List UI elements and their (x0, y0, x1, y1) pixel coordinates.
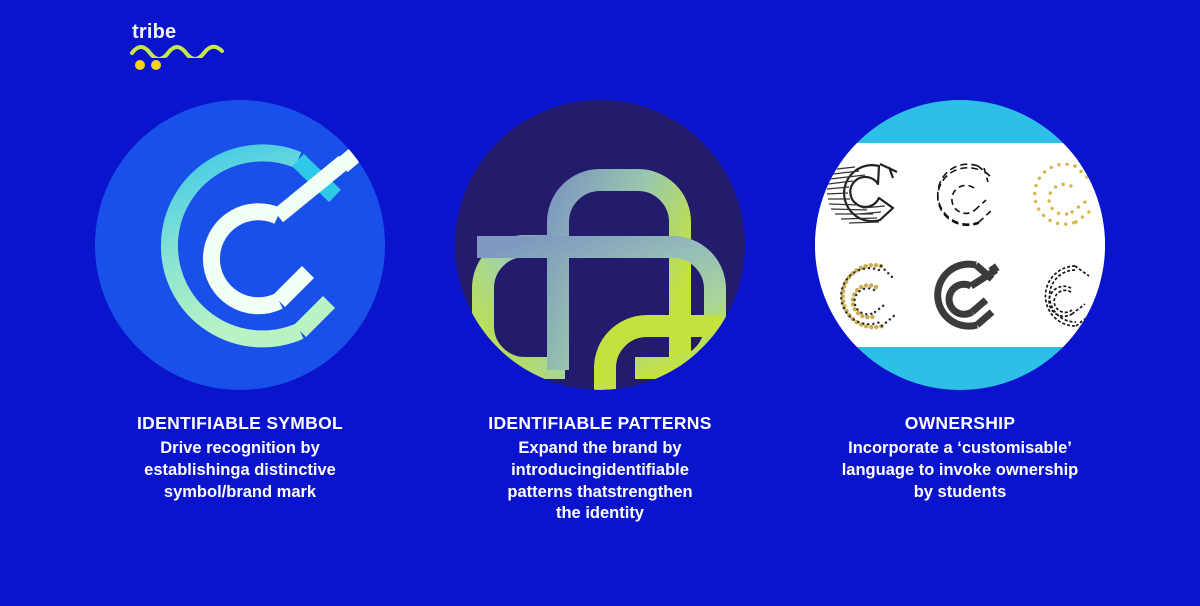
pillar-body: Expand the brand by introducingidentifia… (450, 438, 750, 526)
pillar-body: Incorporate a ‘customisable’ language to… (810, 438, 1110, 504)
slide-canvas: tribe (0, 0, 1200, 606)
pillar-identifiable-symbol: IDENTIFIABLE SYMBOL Drive recognition by… (75, 100, 405, 525)
c-square-beads-icon (916, 152, 1004, 236)
pillar-title: IDENTIFIABLE PATTERNS (450, 412, 750, 436)
patterns-circle (455, 100, 745, 390)
c-gold-speckle-icon (819, 254, 907, 338)
pillar-body: Drive recognition by establishinga disti… (90, 438, 390, 504)
c-sketch-hatched-icon (819, 152, 907, 236)
pillar-body-line: Incorporate a ‘customisable’ (810, 438, 1110, 460)
interlocking-rounded-paths-icon (455, 100, 745, 390)
pillar-body-line: establishinga distinctive (90, 460, 390, 482)
brand-wordmark: tribe (132, 22, 250, 42)
pillar-body-line: patterns thatstrengthen (450, 482, 750, 504)
symbol-circle (95, 100, 385, 390)
c-zigzag-icon (1013, 254, 1101, 338)
pillar-ownership: OWNERSHIP Incorporate a ‘customisable’ l… (795, 100, 1125, 525)
c-zigzag-variant (1008, 245, 1105, 347)
two-dots-icon (134, 59, 168, 71)
symbol-caption: IDENTIFIABLE SYMBOL Drive recognition by… (90, 412, 390, 503)
ownership-graphic (815, 100, 1105, 390)
c-gold-speckle-variant (815, 245, 912, 347)
c-gold-dots-icon (1013, 152, 1101, 236)
pillar-identifiable-patterns: IDENTIFIABLE PATTERNS Expand the brand b… (435, 100, 765, 525)
pillar-body-line: Expand the brand by (450, 438, 750, 460)
pillar-body-line: language to invoke ownership (810, 460, 1110, 482)
c-sketch-hatched-variant (815, 143, 912, 245)
pillar-body-line: by students (810, 482, 1110, 504)
ownership-caption: OWNERSHIP Incorporate a ‘customisable’ l… (810, 412, 1110, 503)
patterns-graphic (455, 100, 745, 390)
c-solid-bold-variant (912, 245, 1009, 347)
c-square-beads-variant (912, 143, 1009, 245)
c-variations-grid (815, 143, 1105, 347)
pillar-body-line: introducingidentifiable (450, 460, 750, 482)
c-monogram-symbol-icon (95, 100, 385, 390)
pillar-body-line: the identity (450, 503, 750, 525)
pillar-body-line: symbol/brand mark (90, 482, 390, 504)
pillar-body-line: Drive recognition by (90, 438, 390, 460)
pillars-row: IDENTIFIABLE SYMBOL Drive recognition by… (0, 100, 1200, 525)
pillar-title: IDENTIFIABLE SYMBOL (90, 412, 390, 436)
c-solid-bold-icon (912, 252, 1008, 340)
wavy-line-icon (130, 44, 226, 58)
patterns-caption: IDENTIFIABLE PATTERNS Expand the brand b… (450, 412, 750, 525)
symbol-graphic (95, 100, 385, 390)
brand-logo: tribe (130, 22, 250, 77)
pillar-title: OWNERSHIP (810, 412, 1110, 436)
c-gold-dots-variant (1008, 143, 1105, 245)
ownership-circle (815, 100, 1105, 390)
